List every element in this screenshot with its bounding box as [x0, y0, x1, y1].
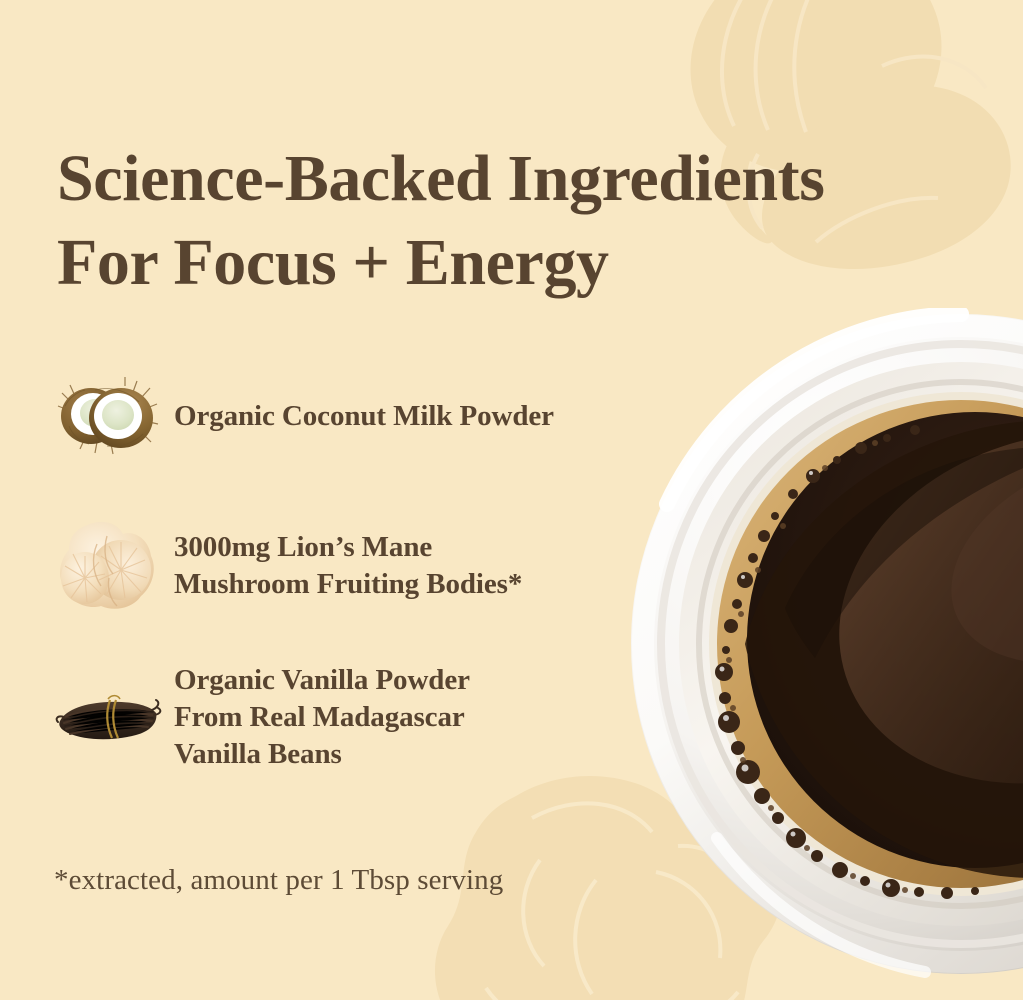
page-title: Science-Backed Ingredients For Focus + E…: [57, 137, 957, 305]
ingredient-list: Organic Coconut Milk Powder: [0, 360, 640, 773]
list-item: 3000mg Lion’s Mane Mushroom Fruiting Bod…: [0, 516, 640, 616]
ingredient-label: Organic Vanilla Powder From Real Madagas…: [174, 662, 470, 773]
ingredient-label: Organic Coconut Milk Powder: [174, 398, 554, 435]
list-item: Organic Coconut Milk Powder: [0, 368, 640, 464]
footnote: *extracted, amount per 1 Tbsp serving: [54, 862, 503, 898]
ingredient-label: 3000mg Lion’s Mane Mushroom Fruiting Bod…: [174, 529, 522, 603]
coffee-cup-photo: [625, 308, 1023, 980]
lions-mane-mushroom-icon: [52, 516, 162, 616]
ingredients-promo-card: Science-Backed Ingredients For Focus + E…: [0, 0, 1023, 1000]
coconut-icon: [52, 376, 162, 456]
vanilla-beans-icon: [52, 685, 162, 751]
list-item: Organic Vanilla Powder From Real Madagas…: [0, 662, 640, 773]
